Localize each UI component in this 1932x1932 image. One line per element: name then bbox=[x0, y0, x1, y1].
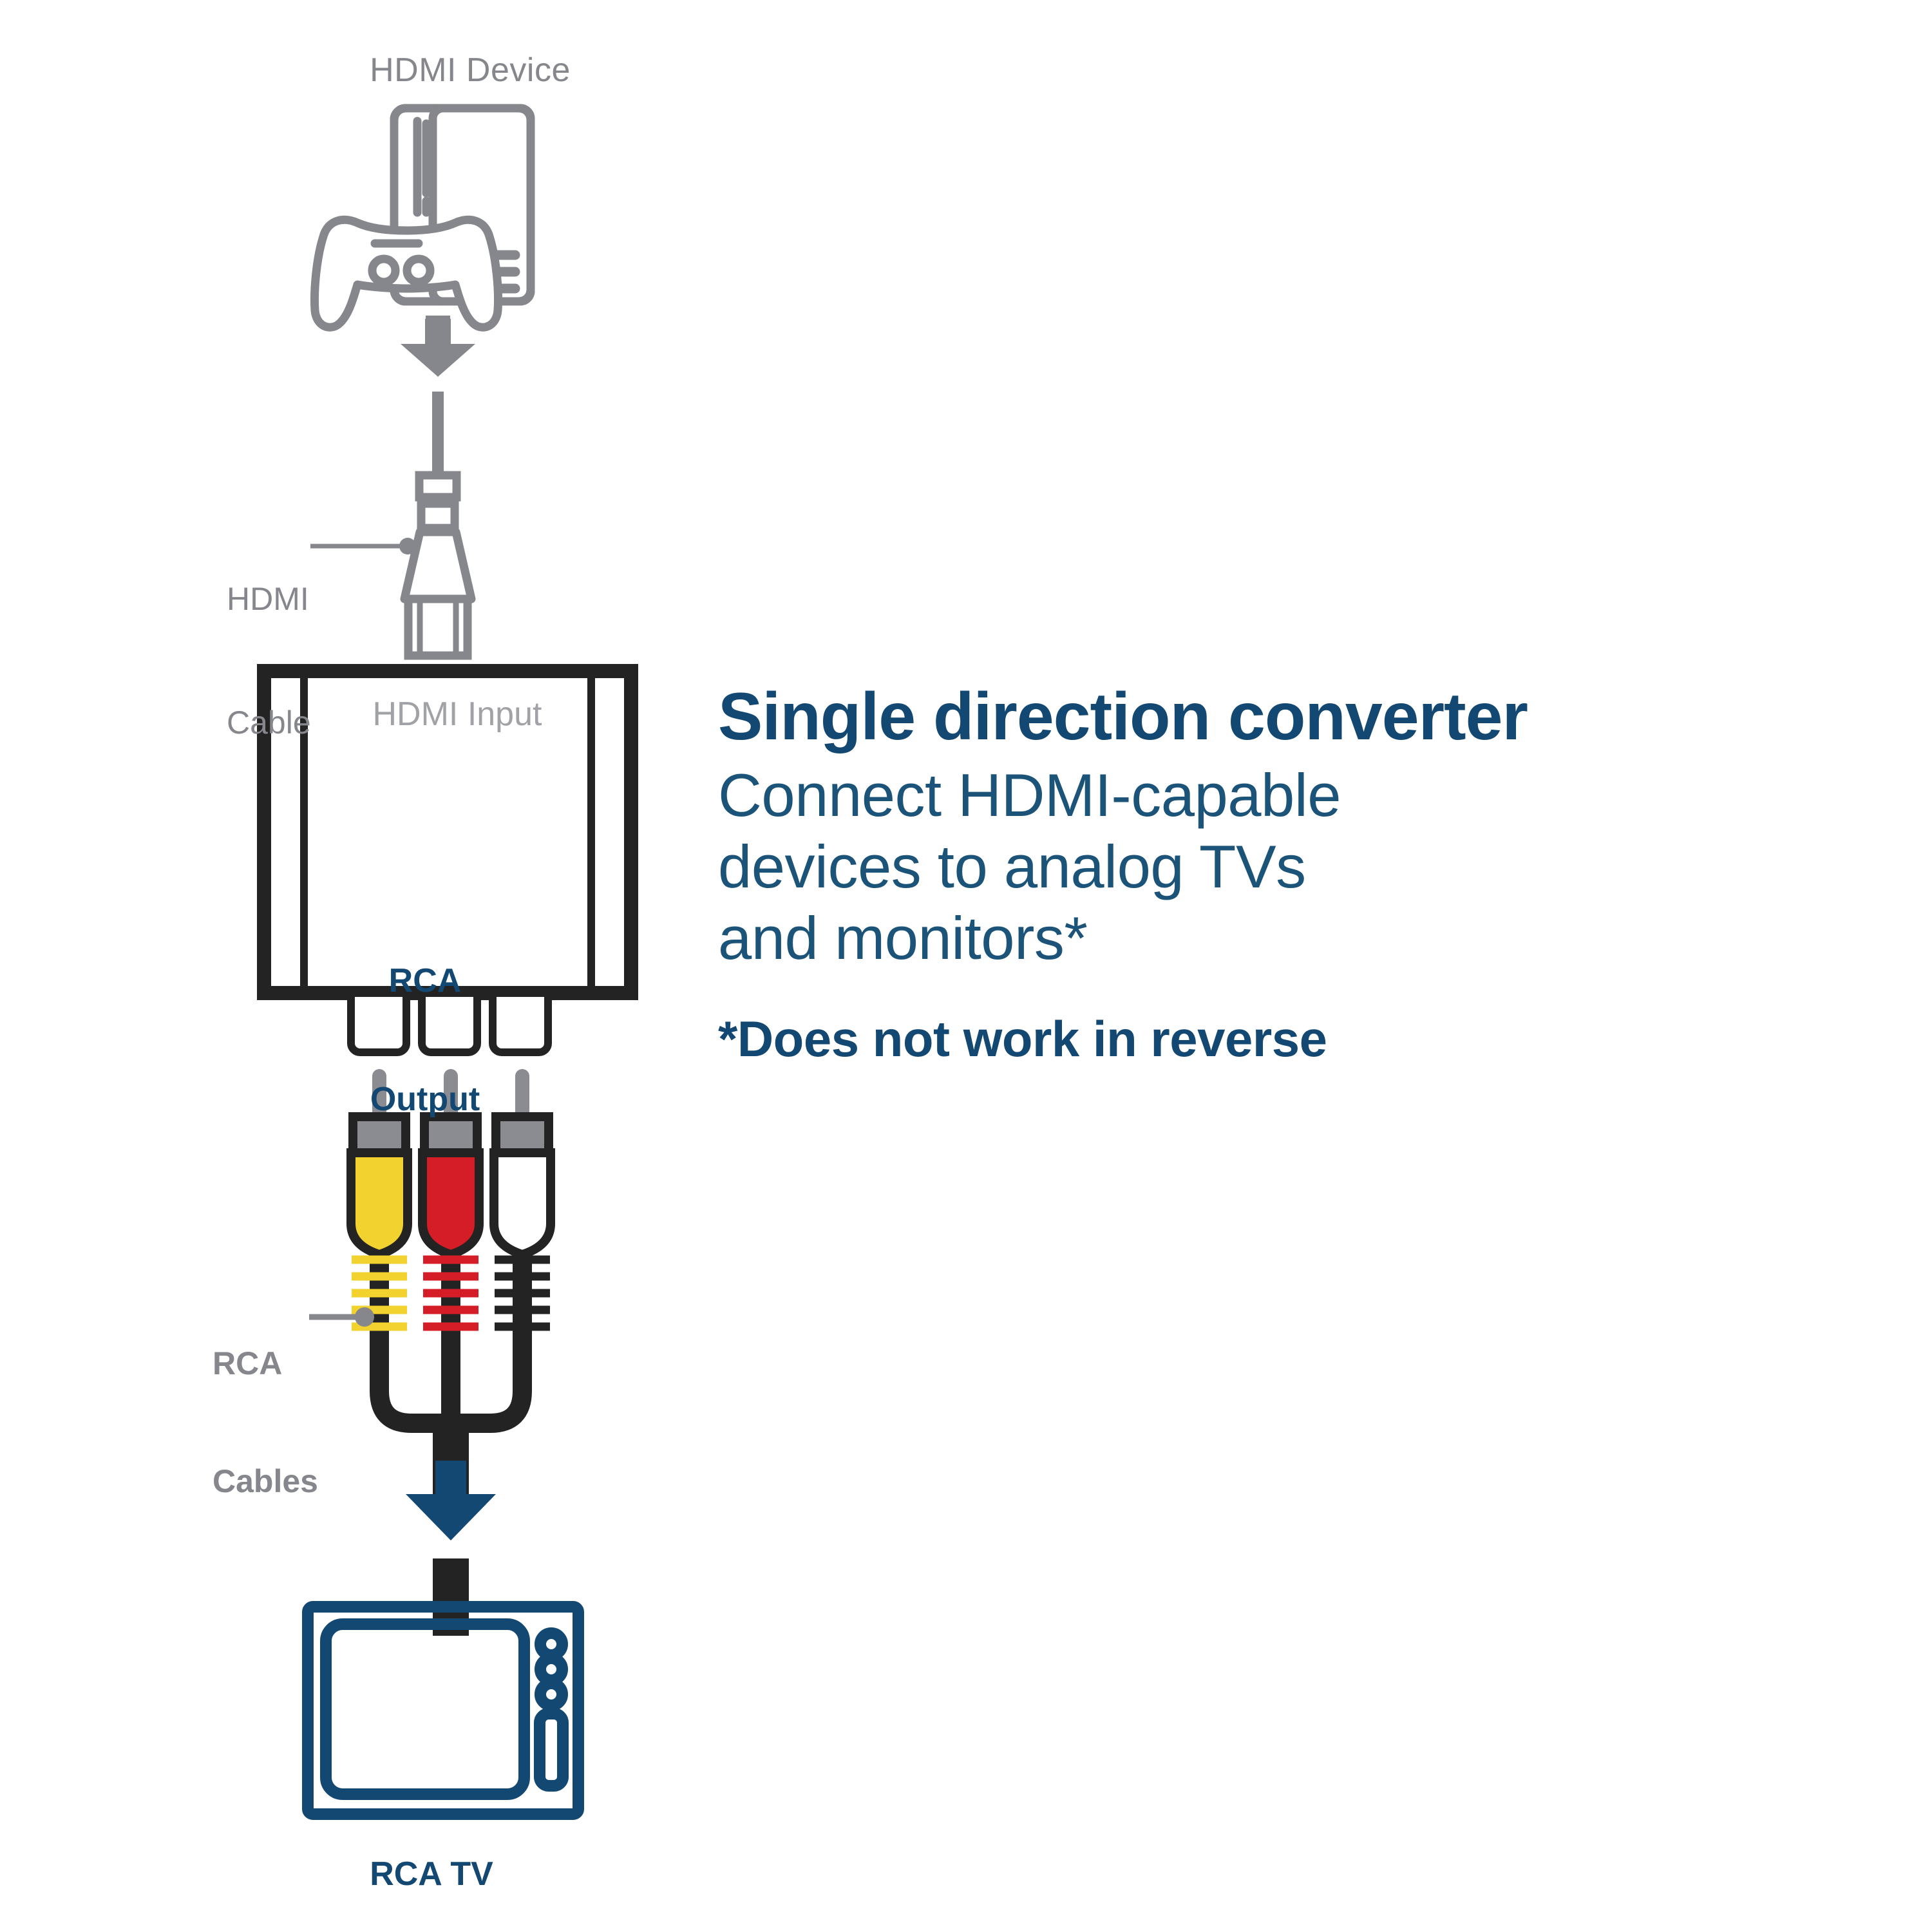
label-rca-cables: RCA Cables bbox=[213, 1265, 406, 1540]
down-arrow-gray-icon-shape bbox=[401, 316, 475, 377]
label-hdmi-cable-line1: HDMI bbox=[227, 578, 420, 620]
copy-body-line2: devices to analog TVs bbox=[718, 831, 1851, 903]
down-arrow-blue-icon bbox=[406, 1461, 496, 1540]
label-rca-cables-line2: Cables bbox=[213, 1462, 406, 1501]
copy-body-line3: and monitors* bbox=[718, 903, 1851, 974]
label-hdmi-cable: HDMI Cable bbox=[227, 496, 420, 784]
label-hdmi-device: HDMI Device bbox=[335, 52, 605, 89]
copy-footnote: *Does not work in reverse bbox=[718, 1012, 1851, 1067]
crt-tv-icon bbox=[308, 1607, 578, 1814]
label-rca-output: RCA Output bbox=[283, 882, 567, 1159]
diagram-canvas: HDMI Device HDMI Cable HDMI Input RCA Ou… bbox=[0, 0, 1932, 1932]
label-rca-output-line1: RCA bbox=[283, 961, 567, 1001]
copy-body-line1: Connect HDMI-capable bbox=[718, 760, 1851, 831]
label-rca-output-line2: Output bbox=[283, 1080, 567, 1119]
label-rca-cables-line1: RCA bbox=[213, 1344, 406, 1383]
label-rca-tv: RCA TV bbox=[277, 1855, 586, 1893]
copy-body: Connect HDMI-capable devices to analog T… bbox=[718, 760, 1851, 974]
label-hdmi-input: HDMI Input bbox=[283, 696, 631, 733]
copy-headline: Single direction converter bbox=[718, 683, 1851, 751]
marketing-copy-block: Single direction converter Connect HDMI-… bbox=[718, 683, 1851, 1067]
